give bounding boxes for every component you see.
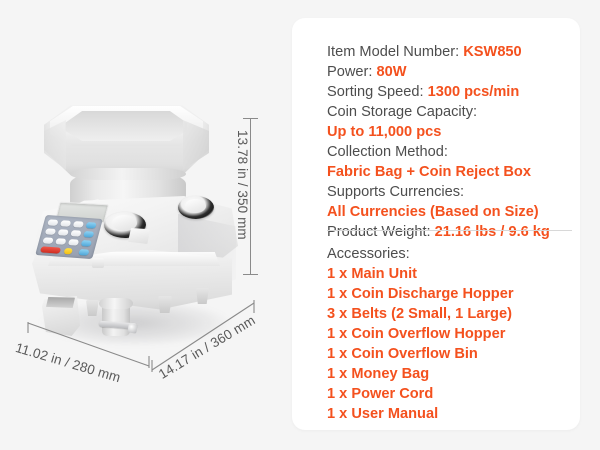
keypad-key-function bbox=[80, 240, 92, 247]
spec-label: Power: bbox=[327, 64, 376, 80]
accessory-item: 1 x Coin Overflow Bin bbox=[327, 344, 577, 364]
keypad-key-function bbox=[78, 249, 90, 256]
specification-list: Item Model Number: KSW850Power: 80WSorti… bbox=[327, 42, 577, 242]
spec-label: Collection Method: bbox=[327, 142, 577, 162]
coin-discharge-outlet-rim bbox=[99, 298, 133, 309]
card-divider bbox=[327, 230, 572, 231]
spec-value: All Currencies (Based on Size) bbox=[327, 202, 577, 222]
accessory-item: 1 x Power Cord bbox=[327, 384, 577, 404]
spec-label: Supports Currencies: bbox=[327, 182, 577, 202]
keypad-key bbox=[68, 239, 80, 246]
secondary-outlet-port-inner bbox=[185, 199, 206, 213]
height-dimension-cap-bottom bbox=[243, 274, 258, 275]
height-dimension-line bbox=[250, 118, 251, 275]
keypad-key bbox=[70, 230, 82, 237]
spec-value: 21.16 lbs / 9.6 kg bbox=[435, 224, 550, 240]
accessories-heading: Accessories: bbox=[327, 244, 577, 264]
keypad-key-function bbox=[83, 231, 95, 238]
keypad-key bbox=[47, 219, 59, 226]
lid-latch-tab bbox=[92, 258, 104, 268]
keypad-key bbox=[45, 228, 57, 235]
accessory-item: 3 x Belts (2 Small, 1 Large) bbox=[327, 304, 577, 324]
coin-outlet-guide-tab bbox=[128, 228, 150, 244]
accessory-item: 1 x Coin Overflow Hopper bbox=[327, 324, 577, 344]
coin-reject-chute-opening bbox=[46, 297, 75, 308]
keypad-key bbox=[57, 229, 69, 236]
specification-card: Item Model Number: KSW850Power: 80WSorti… bbox=[292, 18, 580, 430]
spec-row: Sorting Speed: 1300 pcs/min bbox=[327, 82, 577, 102]
spec-label: Coin Storage Capacity: bbox=[327, 102, 577, 122]
spec-row: Power: 80W bbox=[327, 62, 577, 82]
accessory-item: 1 x User Manual bbox=[327, 404, 577, 424]
hopper-neck-collar bbox=[70, 168, 186, 180]
keypad-key bbox=[42, 237, 54, 244]
accessory-item: 1 x Coin Discharge Hopper bbox=[327, 284, 577, 304]
keypad-key bbox=[60, 220, 72, 227]
height-dimension-label: 13.78 in / 350 mm bbox=[235, 130, 250, 240]
spec-value: 80W bbox=[376, 64, 406, 80]
spec-label: Sorting Speed: bbox=[327, 84, 428, 100]
spec-label: Product Weight: bbox=[327, 224, 435, 240]
keypad-alert-key bbox=[63, 248, 73, 255]
spec-value: Up to 11,000 pcs bbox=[327, 122, 577, 142]
keypad-key-function bbox=[85, 222, 97, 229]
accessory-item: 1 x Money Bag bbox=[327, 364, 577, 384]
spec-value: Fabric Bag + Coin Reject Box bbox=[327, 162, 577, 182]
accessories-section: Accessories: 1 x Main Unit1 x Coin Disch… bbox=[327, 244, 577, 424]
keypad-key bbox=[73, 221, 85, 228]
product-spec-sheet: 13.78 in / 350 mm 11.02 in / 280 mm 14.1… bbox=[0, 0, 600, 450]
spec-row: Item Model Number: KSW850 bbox=[327, 42, 577, 62]
spec-value: KSW850 bbox=[463, 44, 521, 60]
keypad-stop-key bbox=[40, 246, 61, 254]
spec-row: Product Weight: 21.16 lbs / 9.6 kg bbox=[327, 222, 577, 242]
accessory-item: 1 x Main Unit bbox=[327, 264, 577, 284]
spec-value: 1300 pcs/min bbox=[428, 84, 520, 100]
product-image: 13.78 in / 350 mm 11.02 in / 280 mm 14.1… bbox=[0, 0, 290, 450]
height-dimension-cap-top bbox=[243, 118, 258, 119]
keypad-key bbox=[55, 238, 67, 245]
hopper-inner-surface bbox=[65, 111, 187, 141]
numeric-keypad bbox=[35, 215, 103, 259]
accessories-list: 1 x Main Unit1 x Coin Discharge Hopper3 … bbox=[327, 264, 577, 424]
spec-label: Item Model Number: bbox=[327, 44, 463, 60]
